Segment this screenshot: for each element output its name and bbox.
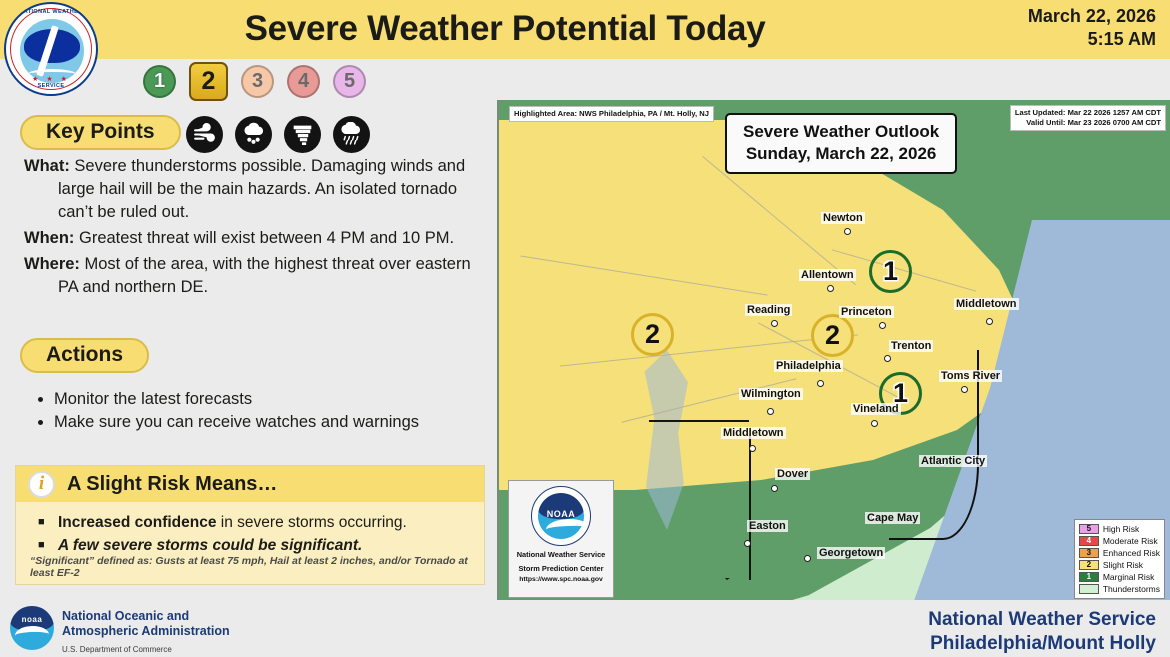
office-line1: National Weather Service — [928, 608, 1156, 632]
city-dot — [879, 322, 886, 329]
risk-badge-4[interactable]: 4 — [287, 65, 320, 98]
key-point-what-text: Severe thunderstorms possible. Damaging … — [58, 157, 465, 221]
legend-label: Moderate Risk — [1103, 536, 1158, 546]
explainer-header: i A Slight Risk Means… — [16, 466, 484, 502]
page-title: Severe Weather Potential Today — [110, 4, 900, 54]
noaa-circle: NOAA — [538, 493, 584, 539]
action-item: Make sure you can receive watches and wa… — [54, 411, 476, 434]
explainer-bullet: A few severe storms could be significant… — [38, 534, 484, 557]
explainer-bullet-rest: in severe storms occurring. — [216, 514, 406, 531]
key-point-where-text: Most of the area, with the highest threa… — [58, 255, 471, 296]
noaa-bird-shape — [15, 625, 50, 644]
city-label: Cape May — [865, 512, 920, 524]
risk-badge-3[interactable]: 3 — [241, 65, 274, 98]
hail-icon — [235, 116, 272, 153]
city-label: Wilmington — [739, 388, 803, 400]
key-point-when: When: Greatest threat will exist between… — [24, 227, 476, 250]
explainer-bullets: Increased confidence in severe storms oc… — [16, 502, 484, 557]
city-dot — [767, 408, 774, 415]
actions-label: Actions — [20, 338, 149, 373]
footer-bar: noaa National Oceanic and Atmospheric Ad… — [0, 600, 1170, 656]
legend-label: High Risk — [1103, 524, 1139, 534]
legend-swatch: 4 — [1079, 536, 1099, 546]
nws-office-name: National Weather Service Philadelphia/Mo… — [928, 608, 1156, 656]
city-dot — [827, 285, 834, 292]
risk-badge-5[interactable]: 5 — [333, 65, 366, 98]
city-label: Reading — [745, 304, 792, 316]
key-points-body: What: Severe thunderstorms possible. Dam… — [24, 155, 476, 302]
city-label: Middletown — [954, 298, 1019, 310]
city-dot — [744, 540, 751, 547]
noaa-line2: Atmospheric Administration — [62, 624, 230, 639]
key-point-what-label: What: — [24, 157, 70, 175]
significant-definition-note: “Significant” defined as: Gusts at least… — [30, 555, 480, 579]
noaa-logo: noaa — [10, 606, 54, 650]
slight-risk-explainer-box: i A Slight Risk Means… Increased confide… — [15, 465, 485, 585]
hazard-icon-row — [186, 116, 370, 153]
severe-weather-graphic: Severe Weather Potential Today March 22,… — [0, 0, 1170, 656]
action-item: Monitor the latest forecasts — [54, 388, 476, 411]
noaa-department: U.S. Department of Commerce — [62, 642, 230, 657]
office-line2: Philadelphia/Mount Holly — [928, 632, 1156, 656]
valid-until-text: Valid Until: Mar 23 2026 0700 AM CDT — [1015, 118, 1161, 128]
outlook-title-box: Severe Weather Outlook Sunday, March 22,… — [725, 113, 957, 174]
severe-weather-outlook-map[interactable]: Highlighted Area: NWS Philadelphia, PA /… — [497, 100, 1170, 604]
key-point-when-label: When: — [24, 229, 74, 247]
actions-header: Actions — [20, 338, 149, 373]
left-content-panel: Key Points — [0, 100, 497, 600]
legend-swatch: 2 — [1079, 560, 1099, 570]
noaa-agency-name: National Oceanic and Atmospheric Adminis… — [62, 609, 230, 657]
noaa-bird-shape — [546, 518, 584, 539]
city-label: Vineland — [851, 403, 901, 415]
legend-row: Thunderstorms — [1079, 583, 1160, 595]
spc-office-line2: Storm Prediction Center — [509, 564, 613, 574]
actions-list: Monitor the latest forecasts Make sure y… — [36, 388, 476, 434]
noaa-line1: National Oceanic and — [62, 609, 230, 624]
risk-badge-2-selected[interactable]: 2 — [189, 62, 228, 101]
city-label: Toms River — [939, 370, 1002, 382]
explainer-bullet: Increased confidence in severe storms oc… — [38, 511, 484, 534]
city-label: Allentown — [799, 269, 856, 281]
header-bar: Severe Weather Potential Today March 22,… — [0, 0, 1170, 59]
seal-top-text: NATIONAL WEATHER — [6, 9, 96, 15]
city-label: Trenton — [889, 340, 933, 352]
city-label: Newton — [821, 212, 865, 224]
noaa-word: noaa — [10, 615, 54, 624]
highlighted-area-label: Highlighted Area: NWS Philadelphia, PA /… — [509, 106, 714, 122]
risk-level-scale: 1 2 3 4 5 — [143, 62, 366, 101]
key-point-where: Where: Most of the area, with the highes… — [24, 253, 476, 299]
key-points-header: Key Points — [20, 115, 181, 150]
legend-row: 5 High Risk — [1079, 523, 1160, 535]
update-info-box: Last Updated: Mar 22 2026 1257 AM CDT Va… — [1010, 105, 1166, 131]
outlook-title-line2: Sunday, March 22, 2026 — [743, 143, 939, 165]
nws-seal-logo: NATIONAL WEATHER ★ ★ ★ SERVICE — [4, 2, 98, 96]
legend-swatch — [1079, 584, 1099, 594]
noaa-circle: noaa — [10, 606, 54, 650]
city-label: Atlantic City — [919, 455, 987, 467]
legend-label: Enhanced Risk — [1103, 548, 1160, 558]
legend-label: Slight Risk — [1103, 560, 1143, 570]
seal-stars: ★ ★ ★ — [6, 75, 96, 83]
city-label: Georgetown — [817, 547, 885, 559]
header-datetime: March 22, 2026 5:15 AM — [896, 5, 1156, 51]
city-label: Easton — [747, 520, 788, 532]
city-dot — [817, 380, 824, 387]
legend-swatch: 1 — [1079, 572, 1099, 582]
city-dot — [771, 485, 778, 492]
header-time: 5:15 AM — [896, 28, 1156, 51]
legend-row: 1 Marginal Risk — [1079, 571, 1160, 583]
legend-swatch: 5 — [1079, 524, 1099, 534]
state-border-delaware — [749, 430, 751, 580]
city-dot — [871, 420, 878, 427]
city-dot — [804, 555, 811, 562]
legend-row: 3 Enhanced Risk — [1079, 547, 1160, 559]
seal-bottom-text: SERVICE — [6, 83, 96, 89]
city-label: Dover — [775, 468, 810, 480]
key-point-what: What: Severe thunderstorms possible. Dam… — [24, 155, 476, 224]
tornado-icon — [284, 116, 321, 153]
city-dot — [844, 228, 851, 235]
spc-url[interactable]: https://www.spc.noaa.gov — [509, 576, 613, 583]
legend-swatch: 3 — [1079, 548, 1099, 558]
key-point-where-label: Where: — [24, 255, 80, 273]
risk-badge-1[interactable]: 1 — [143, 65, 176, 98]
legend-row: 2 Slight Risk — [1079, 559, 1160, 571]
legend-label: Thunderstorms — [1103, 584, 1160, 594]
city-dot — [749, 445, 756, 452]
key-points-label: Key Points — [20, 115, 181, 150]
explainer-bullet-bold: Increased confidence — [58, 514, 217, 531]
spc-logo-box: NOAA National Weather Service Storm Pred… — [508, 480, 614, 598]
legend-row: 4 Moderate Risk — [1079, 535, 1160, 547]
city-label: Middletown — [721, 427, 786, 439]
risk-marker-slight: 2 — [631, 313, 674, 356]
city-dot — [771, 320, 778, 327]
city-dot — [986, 318, 993, 325]
info-icon: i — [28, 471, 55, 498]
risk-marker-marginal: 1 — [869, 250, 912, 293]
city-label: Philadelphia — [774, 360, 843, 372]
legend-label: Marginal Risk — [1103, 572, 1155, 582]
city-label: Princeton — [839, 306, 894, 318]
noaa-seal-word: NOAA — [538, 509, 584, 519]
explainer-bullet-bold: A few severe storms could be significant… — [58, 537, 362, 554]
noaa-seal-icon: NOAA — [531, 486, 591, 546]
seal-inner-graphic — [20, 19, 84, 83]
city-dot — [884, 355, 891, 362]
explainer-title: A Slight Risk Means… — [67, 473, 277, 496]
wind-icon — [186, 116, 223, 153]
last-updated-text: Last Updated: Mar 22 2026 1257 AM CDT — [1015, 108, 1161, 118]
risk-marker-slight: 2 — [811, 314, 854, 357]
city-dot — [961, 386, 968, 393]
header-date: March 22, 2026 — [896, 5, 1156, 28]
key-point-when-text: Greatest threat will exist between 4 PM … — [74, 229, 454, 247]
heavy-rain-icon — [333, 116, 370, 153]
outlook-title-line1: Severe Weather Outlook — [743, 121, 939, 143]
risk-legend: 5 High Risk 4 Moderate Risk 3 Enhanced R… — [1074, 519, 1165, 599]
spc-office-line1: National Weather Service — [509, 550, 613, 560]
